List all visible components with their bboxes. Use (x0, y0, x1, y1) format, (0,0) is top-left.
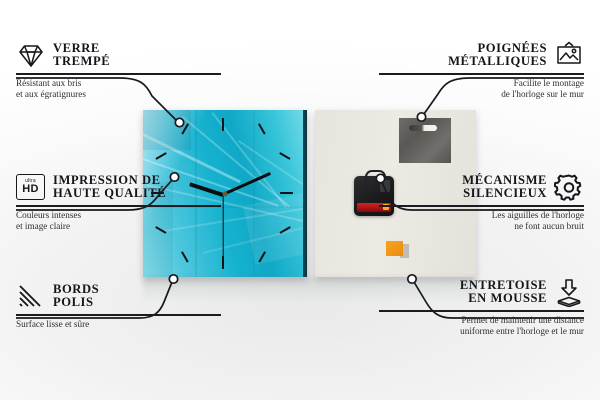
feature-title: VERRE TREMPÉ (53, 42, 110, 69)
feature-head: ENTRETOISE EN MOUSSE (379, 277, 584, 307)
feature-divider (379, 73, 584, 75)
ultra-hd-icon: ultra HD (16, 172, 46, 202)
orange-foam-spacer (386, 241, 403, 256)
feature-impression-haute-qualite: ultra HD IMPRESSION DE HAUTE QUALITÉ Cou… (16, 172, 221, 232)
infographic-canvas: VERRE TREMPÉ Résistant aux bris et aux é… (0, 0, 600, 400)
framed-picture-icon (554, 40, 584, 70)
feature-head: BORDS POLIS (16, 281, 221, 311)
hanger-keyhole-slot (409, 125, 437, 131)
feature-subtitle: Résistant aux bris et aux égratignures (16, 78, 221, 100)
feature-subtitle: Permet de maintenir une distance uniform… (379, 315, 584, 337)
feature-divider (379, 310, 584, 312)
feature-divider (379, 205, 584, 207)
feature-subtitle: Facilite le montage de l'horloge sur le … (379, 78, 584, 100)
polished-edge-lines-icon (16, 281, 46, 311)
feature-divider (16, 73, 221, 75)
feature-head: VERRE TREMPÉ (16, 40, 221, 70)
diamond-icon (16, 40, 46, 70)
feature-head: MÉCANISME SILENCIEUX (379, 172, 584, 202)
feature-divider (16, 314, 221, 316)
feature-divider (16, 205, 221, 207)
feature-title: BORDS POLIS (53, 283, 99, 310)
feature-mecanisme-silencieux: MÉCANISME SILENCIEUX Les aiguilles de l'… (379, 172, 584, 232)
feature-bords-polis: BORDS POLIS Surface lisse et sûre (16, 281, 221, 330)
feature-head: POIGNÉES MÉTALLIQUES (379, 40, 584, 70)
feature-title: ENTRETOISE EN MOUSSE (460, 279, 547, 306)
metal-hanger-plate (399, 118, 451, 163)
clock-center-pin (223, 191, 228, 196)
feature-title: MÉCANISME SILENCIEUX (462, 174, 547, 201)
feature-title: IMPRESSION DE HAUTE QUALITÉ (53, 174, 166, 201)
gear-icon (554, 172, 584, 202)
feature-subtitle: Les aiguilles de l'horloge ne font aucun… (379, 210, 584, 232)
feature-entretoise-en-mousse: ENTRETOISE EN MOUSSE Permet de maintenir… (379, 277, 584, 337)
feature-title: POIGNÉES MÉTALLIQUES (448, 42, 547, 69)
clock-hand-minute (222, 172, 271, 196)
clock-hand-second (222, 194, 223, 258)
feature-subtitle: Surface lisse et sûre (16, 319, 221, 330)
feature-poignees-metalliques: POIGNÉES MÉTALLIQUES Facilite le montage… (379, 40, 584, 100)
feature-subtitle: Couleurs intenses et image claire (16, 210, 221, 232)
feature-head: ultra HD IMPRESSION DE HAUTE QUALITÉ (16, 172, 221, 202)
press-down-pad-icon (554, 277, 584, 307)
feature-verre-trempe: VERRE TREMPÉ Résistant aux bris et aux é… (16, 40, 221, 100)
